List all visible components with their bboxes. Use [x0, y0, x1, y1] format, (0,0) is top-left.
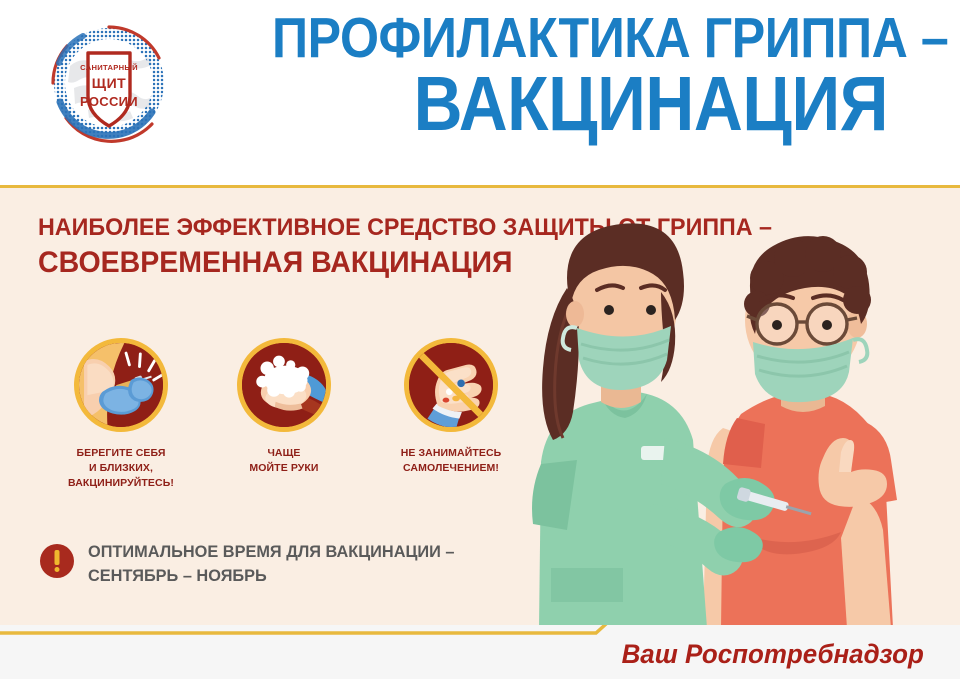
- rospotrebnadzor-signature: Ваш Роспотребнадзор: [622, 639, 924, 670]
- advice-item-vaccination: БЕРЕГИТЕ СЕБЯ И БЛИЗКИХ, ВАКЦИНИРУЙТЕСЬ!: [38, 338, 204, 491]
- advice-item-handwashing: ЧАЩЕ МОЙТЕ РУКИ: [201, 338, 367, 476]
- logo-line-2: ЩИТ: [92, 75, 126, 91]
- vaccination-injection-icon: [74, 338, 168, 432]
- page-title-line-2: ВАКЦИНАЦИЯ: [272, 68, 888, 140]
- page-title-line-1: ПРОФИЛАКТИКА ГРИППА –: [272, 12, 888, 66]
- influenza-vaccination-poster: САНИТАРНЫЙ ЩИТ РОССИИ ПРОФИЛАКТИКА ГРИПП…: [0, 0, 960, 679]
- exclamation-dot: [55, 567, 60, 572]
- advice-caption: ЧАЩЕ МОЙТЕ РУКИ: [201, 446, 367, 476]
- advice-icons-row: БЕРЕГИТЕ СЕБЯ И БЛИЗКИХ, ВАКЦИНИРУЙТЕСЬ!: [38, 338, 508, 528]
- no-self-medication-prohibited-icon: [404, 338, 498, 432]
- logo-line-1: САНИТАРНЫЙ: [80, 63, 138, 72]
- optimal-time-block: ОПТИМАЛЬНОЕ ВРЕМЯ ДЛЯ ВАКЦИНАЦИИ – СЕНТЯ…: [40, 540, 510, 602]
- advice-caption: БЕРЕГИТЕ СЕБЯ И БЛИЗКИХ, ВАКЦИНИРУЙТЕСЬ!: [38, 446, 204, 491]
- exclamation-badge-icon: [40, 544, 74, 578]
- poster-body: НАИБОЛЕЕ ЭФФЕКТИВНОЕ СРЕДСТВО ЗАЩИТЫ ОТ …: [0, 188, 960, 625]
- handwashing-soap-icon: [237, 338, 331, 432]
- page-title: ПРОФИЛАКТИКА ГРИППА – ВАКЦИНАЦИЯ: [188, 12, 888, 140]
- optimal-time-text: ОПТИМАЛЬНОЕ ВРЕМЯ ДЛЯ ВАКЦИНАЦИИ – СЕНТЯ…: [88, 540, 470, 588]
- optimal-time-line-1: ОПТИМАЛЬНОЕ ВРЕМЯ ДЛЯ ВАКЦИНАЦИИ –: [88, 540, 454, 564]
- logo-line-3: РОССИИ: [80, 94, 138, 109]
- sanitary-shield-of-russia-emblem: САНИТАРНЫЙ ЩИТ РОССИИ: [44, 18, 174, 148]
- nurse-vaccinating-patient-illustration: [505, 188, 960, 625]
- optimal-time-line-2: СЕНТЯБРЬ – НОЯБРЬ: [88, 564, 454, 588]
- poster-header: САНИТАРНЫЙ ЩИТ РОССИИ ПРОФИЛАКТИКА ГРИПП…: [0, 0, 960, 186]
- exclamation-bar: [55, 550, 60, 565]
- poster-footer: Ваш Роспотребнадзор: [0, 625, 960, 679]
